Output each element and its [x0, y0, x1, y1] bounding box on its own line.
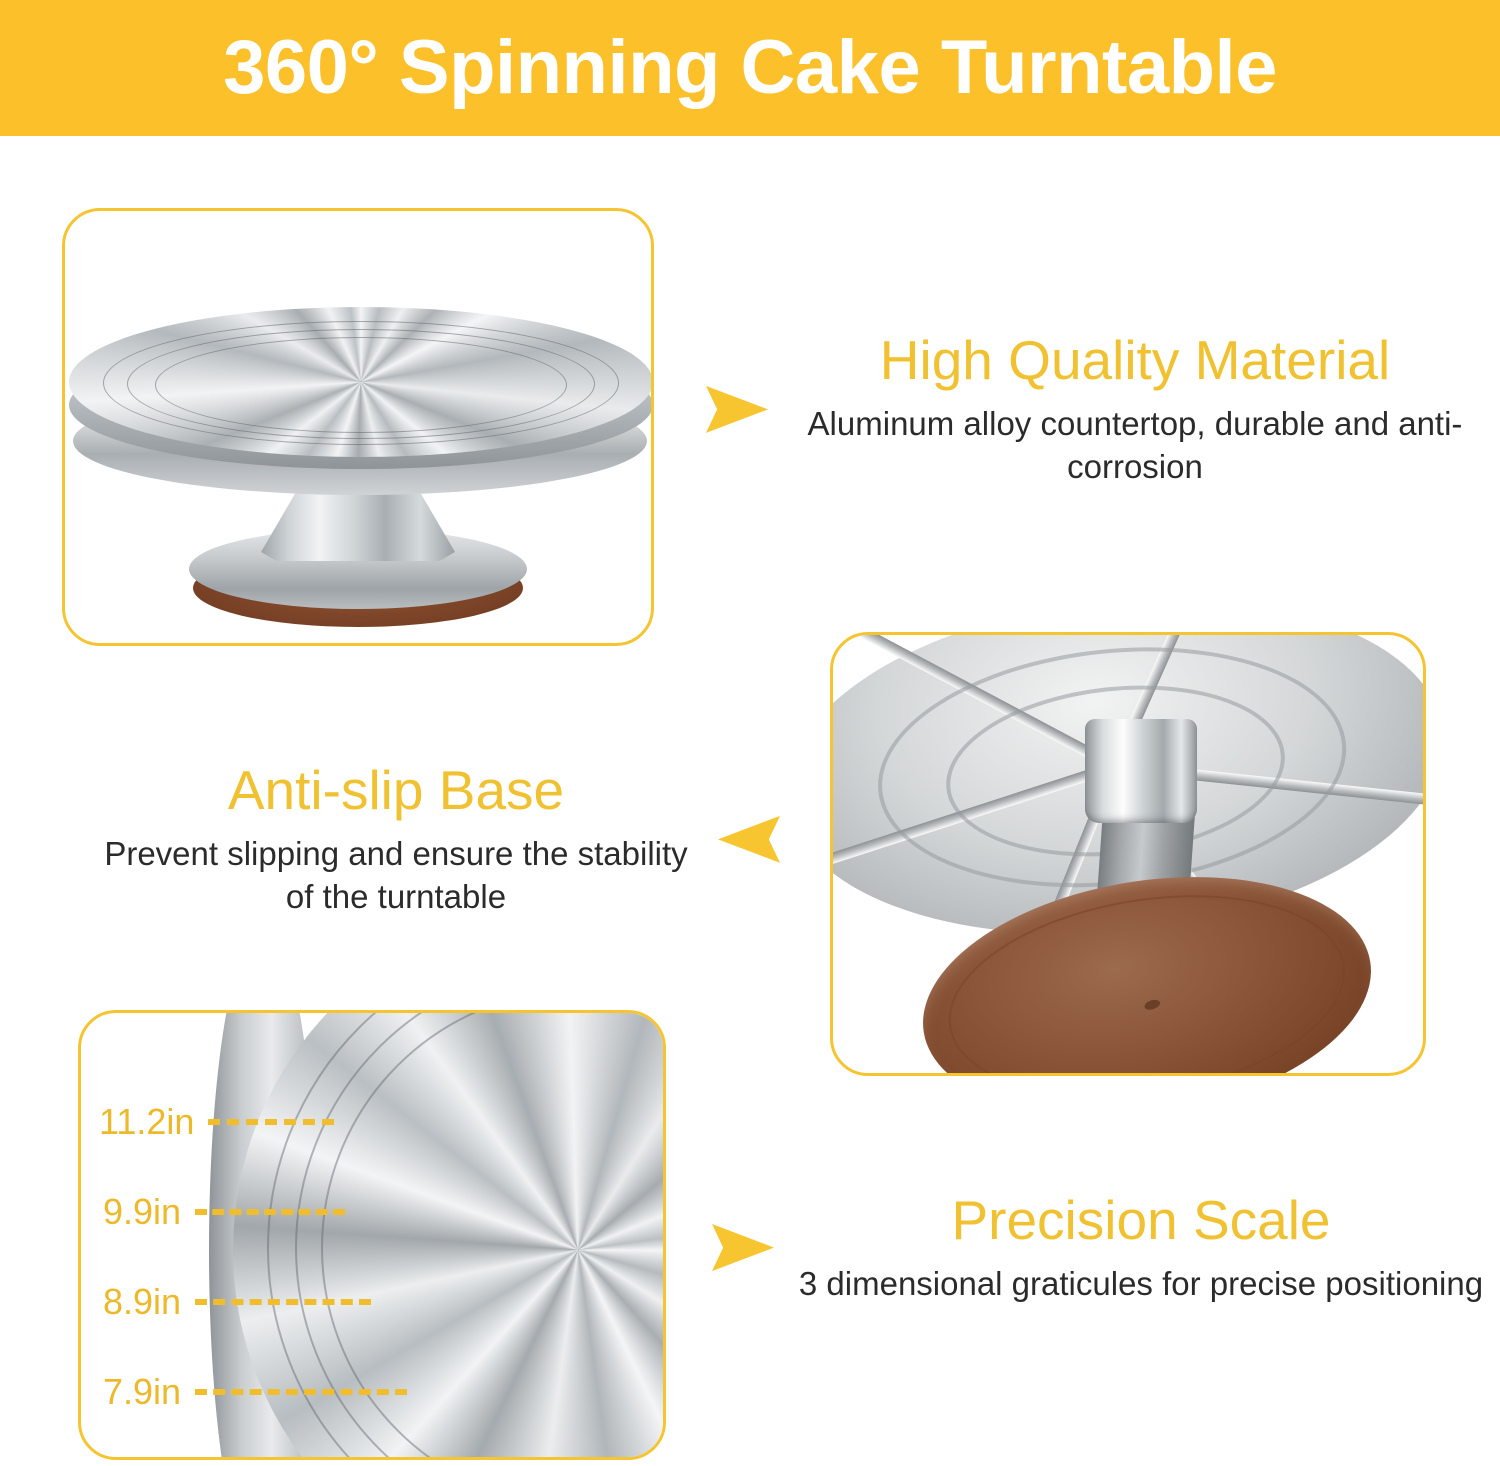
scale-leader-line: [195, 1299, 371, 1305]
scale-label-row: 11.2in: [99, 1101, 334, 1143]
product-photo-panel: [62, 208, 654, 646]
feature-description: Aluminum alloy countertop, durable and a…: [790, 402, 1480, 489]
arrow-left-icon: [718, 811, 780, 867]
anti-slip-base-photo-panel: [830, 632, 1426, 1076]
scale-label-row: 9.9in: [103, 1191, 345, 1233]
precision-scale-photo-panel: 11.2in 9.9in 8.9in 7.9in: [78, 1010, 666, 1460]
page-title: 360° Spinning Cake Turntable: [223, 30, 1277, 106]
scale-label-value: 9.9in: [103, 1191, 181, 1233]
scale-label-value: 7.9in: [103, 1371, 181, 1413]
bearing-hub: [1085, 719, 1197, 823]
feature-text-block: Anti-slip Base Prevent slipping and ensu…: [96, 760, 696, 919]
header-band: 360° Spinning Cake Turntable: [0, 0, 1500, 136]
feature-anti-slip-base: Anti-slip Base Prevent slipping and ensu…: [96, 760, 786, 919]
scale-leader-line: [195, 1209, 345, 1215]
scale-label-row: 8.9in: [103, 1281, 371, 1323]
scale-leader-line: [208, 1119, 334, 1125]
feature-high-quality-material: High Quality Material Aluminum alloy cou…: [706, 330, 1486, 489]
feature-text-block: Precision Scale 3 dimensional graticules…: [796, 1190, 1486, 1305]
arrow-right-icon: [706, 381, 768, 437]
scale-label-group: 11.2in 9.9in 8.9in 7.9in: [81, 1013, 663, 1457]
turntable-illustration: [65, 211, 651, 643]
feature-precision-scale: Precision Scale 3 dimensional graticules…: [712, 1190, 1492, 1305]
feature-title: Anti-slip Base: [96, 760, 696, 822]
feature-description: 3 dimensional graticules for precise pos…: [796, 1262, 1486, 1306]
feature-title: Precision Scale: [796, 1190, 1486, 1252]
feature-description: Prevent slipping and ensure the stabilit…: [96, 832, 696, 919]
feature-title: High Quality Material: [790, 330, 1480, 392]
scale-label-row: 7.9in: [103, 1371, 407, 1413]
scale-label-value: 8.9in: [103, 1281, 181, 1323]
scale-leader-line: [195, 1389, 407, 1395]
plate-top-surface: [69, 307, 653, 457]
feature-text-block: High Quality Material Aluminum alloy cou…: [790, 330, 1480, 489]
rubber-pad-center-nub: [1143, 998, 1161, 1012]
arrow-right-icon: [712, 1220, 774, 1276]
scale-label-value: 11.2in: [99, 1101, 194, 1143]
